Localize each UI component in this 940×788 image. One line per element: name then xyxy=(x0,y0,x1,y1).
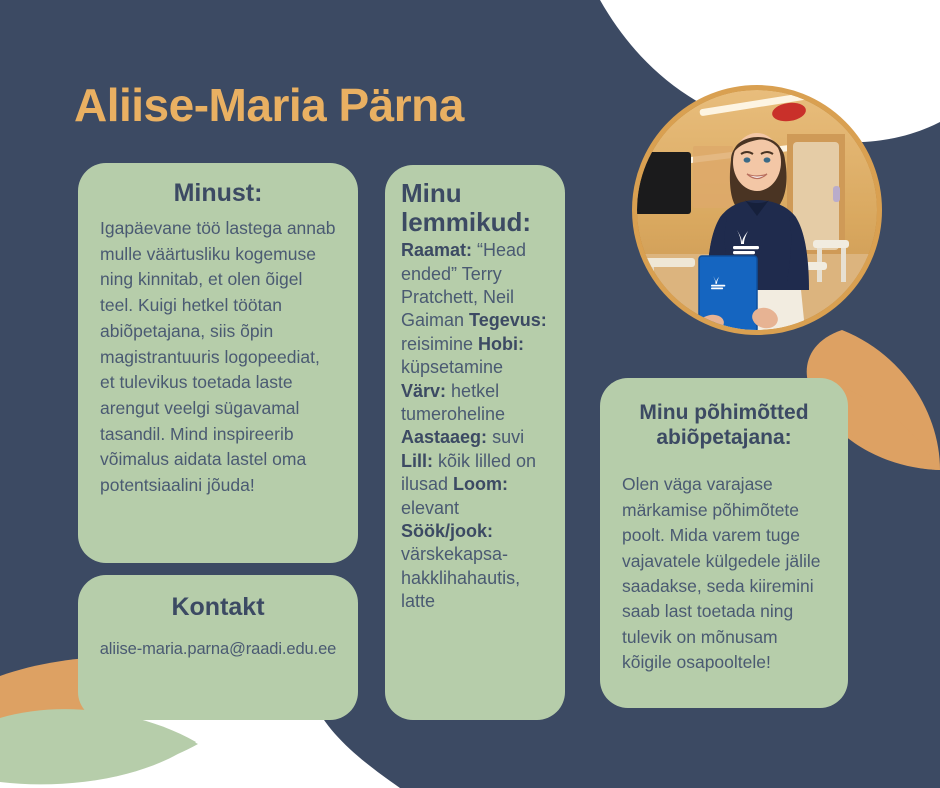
favourite-item: Värv: hetkel tumeroheline xyxy=(401,381,505,424)
page-title: Aliise-Maria Pärna xyxy=(74,78,464,132)
favourite-label: Hobi: xyxy=(478,334,524,354)
about-heading: Minust: xyxy=(100,179,336,208)
profile-photo xyxy=(632,85,882,335)
favourite-item: Aastaaeg: suvi xyxy=(401,427,524,447)
favourite-label: Söök/jook: xyxy=(401,521,493,541)
favourite-item: Söök/jook: värskekapsa-hakklihahautis, l… xyxy=(401,521,520,611)
principles-card: Minu põhimõtted abiõpetajana: Olen väga … xyxy=(600,378,848,708)
favourite-value: värskekapsa-hakklihahautis, latte xyxy=(401,544,520,611)
favourite-value: suvi xyxy=(492,427,524,447)
favourite-value: elevant xyxy=(401,498,459,518)
favourite-label: Tegevus: xyxy=(469,310,547,330)
favourite-value: reisimine xyxy=(401,334,473,354)
principles-text: Olen väga varajase märkamise põhimõtete … xyxy=(622,472,826,675)
favourites-heading: Minu lemmikud: xyxy=(401,179,551,237)
favourite-value: küpsetamine xyxy=(401,357,503,377)
favourites-card: Minu lemmikud: Raamat: “Head ended” Terr… xyxy=(385,165,565,720)
contact-card: Kontakt aliise-maria.parna@raadi.edu.ee xyxy=(78,575,358,720)
favourite-label: Lill: xyxy=(401,451,433,471)
principles-heading: Minu põhimõtted abiõpetajana: xyxy=(622,400,826,450)
poster-canvas: Aliise-Maria Pärna xyxy=(0,0,940,788)
favourite-label: Raamat: xyxy=(401,240,472,260)
profile-photo-illustration xyxy=(637,90,877,330)
contact-heading: Kontakt xyxy=(92,593,344,622)
favourites-list: Raamat: “Head ended” Terry Pratchett, Ne… xyxy=(401,239,551,613)
contact-email[interactable]: aliise-maria.parna@raadi.edu.ee xyxy=(92,640,344,659)
favourite-label: Värv: xyxy=(401,381,446,401)
about-card: Minust: Igapäevane töö lastega annab mul… xyxy=(78,163,358,563)
about-text: Igapäevane töö lastega annab mulle väärt… xyxy=(100,216,336,499)
favourite-label: Aastaaeg: xyxy=(401,427,487,447)
favourite-label: Loom: xyxy=(453,474,508,494)
